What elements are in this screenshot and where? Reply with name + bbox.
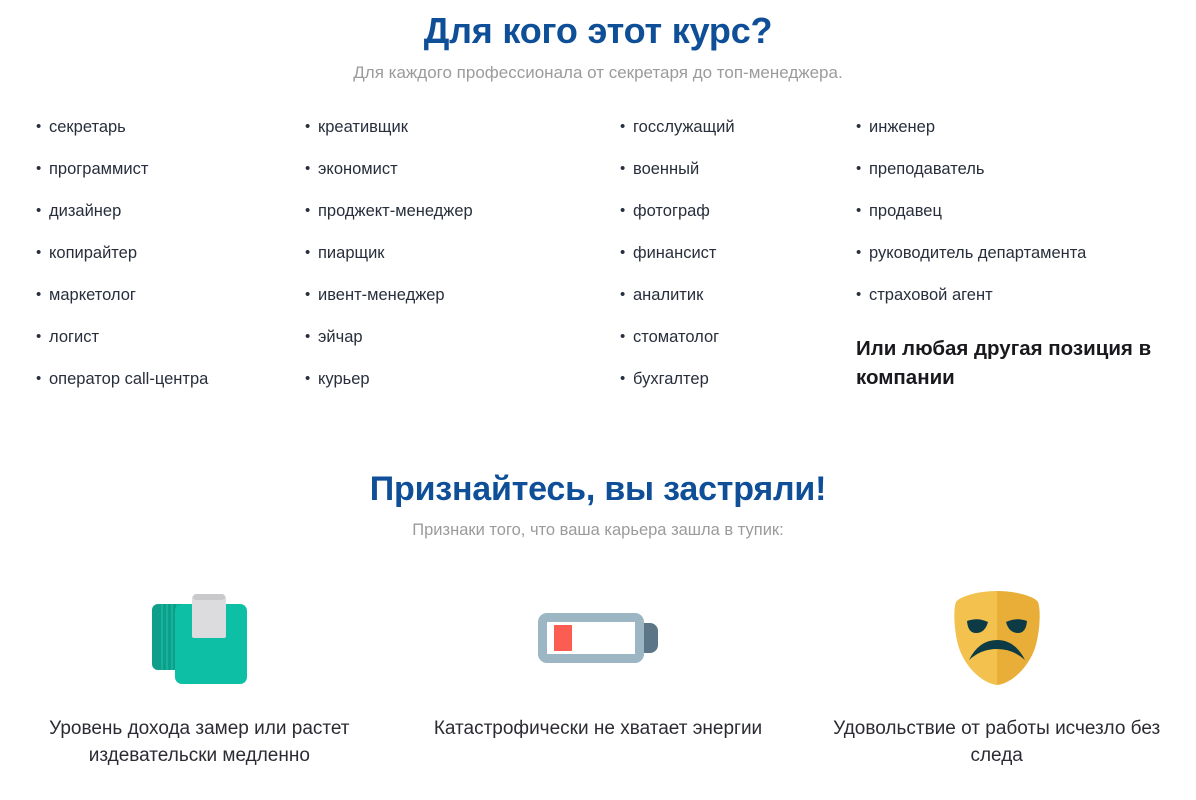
bullet-icon: • — [305, 202, 318, 221]
profession-label: бухгалтер — [633, 370, 709, 390]
list-item: • страховой агент — [856, 286, 1196, 328]
list-item: • курьер — [305, 370, 620, 412]
profession-column-4: • инженер • преподаватель • продавец • р… — [856, 118, 1196, 412]
profession-label: страховой агент — [869, 286, 993, 306]
list-item: • пиарщик — [305, 244, 620, 286]
list-item: • инженер — [856, 118, 1196, 160]
page-subtitle: Для каждого профессионала от секретаря д… — [0, 53, 1196, 84]
list-item: • финансист — [620, 244, 856, 286]
bullet-icon: • — [305, 370, 318, 389]
bullet-icon: • — [620, 160, 633, 179]
profession-label: логист — [49, 328, 99, 348]
bullet-icon: • — [36, 202, 49, 221]
bullet-icon: • — [305, 160, 318, 179]
bullet-icon: • — [620, 328, 633, 347]
list-item: • военный — [620, 160, 856, 202]
list-item: • дизайнер — [36, 202, 305, 244]
list-item: • руководитель департамента — [856, 244, 1196, 286]
sad-mask-icon — [945, 586, 1049, 690]
bullet-icon: • — [620, 370, 633, 389]
profession-label: стоматолог — [633, 328, 719, 348]
profession-label: дизайнер — [49, 202, 121, 222]
profession-label: программист — [49, 160, 148, 180]
profession-label: курьер — [318, 370, 370, 390]
any-position-note: Или любая другая позиция в компании — [856, 334, 1156, 392]
stuck-subtitle: Признаки того, что ваша карьера зашла в … — [0, 511, 1196, 540]
profession-column-1: • секретарь • программист • дизайнер • к… — [36, 118, 305, 412]
profession-label: экономист — [318, 160, 398, 180]
sign-caption: Катастрофически не хватает энергии — [434, 716, 762, 743]
list-item: • программист — [36, 160, 305, 202]
profession-label: руководитель департамента — [869, 244, 1086, 264]
profession-label: инженер — [869, 118, 935, 138]
profession-label: проджект-менеджер — [318, 202, 473, 222]
bullet-icon: • — [856, 286, 869, 305]
stuck-title: Признайтесь, вы застряли! — [0, 468, 1196, 511]
bullet-icon: • — [36, 370, 49, 389]
profession-label: копирайтер — [49, 244, 137, 264]
profession-column-3: • госслужащий • военный • фотограф • фин… — [620, 118, 856, 412]
profession-label: пиарщик — [318, 244, 385, 264]
bullet-icon: • — [36, 118, 49, 137]
profession-label: финансист — [633, 244, 716, 264]
profession-label: аналитик — [633, 286, 703, 306]
bullet-icon: • — [305, 118, 318, 137]
profession-label: военный — [633, 160, 699, 180]
list-item: • эйчар — [305, 328, 620, 370]
page-title: Для кого этот курс? — [0, 0, 1196, 53]
list-item: • бухгалтер — [620, 370, 856, 412]
bullet-icon: • — [856, 244, 869, 263]
sign-card-income: Уровень дохода замер или растет издевате… — [0, 586, 399, 770]
bullet-icon: • — [36, 328, 49, 347]
list-item: • фотограф — [620, 202, 856, 244]
money-stack-icon — [144, 586, 254, 690]
bullet-icon: • — [36, 244, 49, 263]
list-item: • проджект-менеджер — [305, 202, 620, 244]
list-item: • оператор call-центра — [36, 370, 305, 412]
profession-grid: • секретарь • программист • дизайнер • к… — [0, 118, 1196, 412]
list-item: • ивент-менеджер — [305, 286, 620, 328]
bullet-icon: • — [305, 244, 318, 263]
bullet-icon: • — [36, 160, 49, 179]
list-item: • стоматолог — [620, 328, 856, 370]
stuck-section: Признайтесь, вы застряли! Признаки того,… — [0, 468, 1196, 540]
profession-label: эйчар — [318, 328, 363, 348]
bullet-icon: • — [856, 118, 869, 137]
bullet-icon: • — [856, 202, 869, 221]
profession-label: госслужащий — [633, 118, 735, 138]
bullet-icon: • — [305, 286, 318, 305]
profession-label: фотограф — [633, 202, 710, 222]
profession-label: креативщик — [318, 118, 408, 138]
bullet-icon: • — [620, 286, 633, 305]
profession-label: продавец — [869, 202, 942, 222]
profession-label: ивент-менеджер — [318, 286, 445, 306]
profession-label: секретарь — [49, 118, 126, 138]
sign-card-energy: Катастрофически не хватает энергии — [399, 586, 798, 770]
profession-column-2: • креативщик • экономист • проджект-мене… — [305, 118, 620, 412]
profession-label: преподаватель — [869, 160, 984, 180]
bullet-icon: • — [856, 160, 869, 179]
list-item: • аналитик — [620, 286, 856, 328]
bullet-icon: • — [36, 286, 49, 305]
sign-caption: Уровень дохода замер или растет издевате… — [34, 716, 364, 770]
list-item: • госслужащий — [620, 118, 856, 160]
list-item: • секретарь — [36, 118, 305, 160]
list-item: • преподаватель — [856, 160, 1196, 202]
list-item: • копирайтер — [36, 244, 305, 286]
sign-card-joy: Удовольствие от работы исчезло без следа — [797, 586, 1196, 770]
list-item: • маркетолог — [36, 286, 305, 328]
profession-label: оператор call-центра — [49, 370, 208, 390]
list-item: • экономист — [305, 160, 620, 202]
list-item: • продавец — [856, 202, 1196, 244]
list-item: • креативщик — [305, 118, 620, 160]
low-battery-icon — [528, 586, 668, 690]
bullet-icon: • — [620, 244, 633, 263]
list-item: • логист — [36, 328, 305, 370]
bullet-icon: • — [620, 118, 633, 137]
audience-section: Для кого этот курс? Для каждого професси… — [0, 0, 1196, 84]
bullet-icon: • — [620, 202, 633, 221]
profession-label: маркетолог — [49, 286, 136, 306]
sign-caption: Удовольствие от работы исчезло без следа — [832, 716, 1162, 770]
signs-row: Уровень дохода замер или растет издевате… — [0, 586, 1196, 770]
bullet-icon: • — [305, 328, 318, 347]
